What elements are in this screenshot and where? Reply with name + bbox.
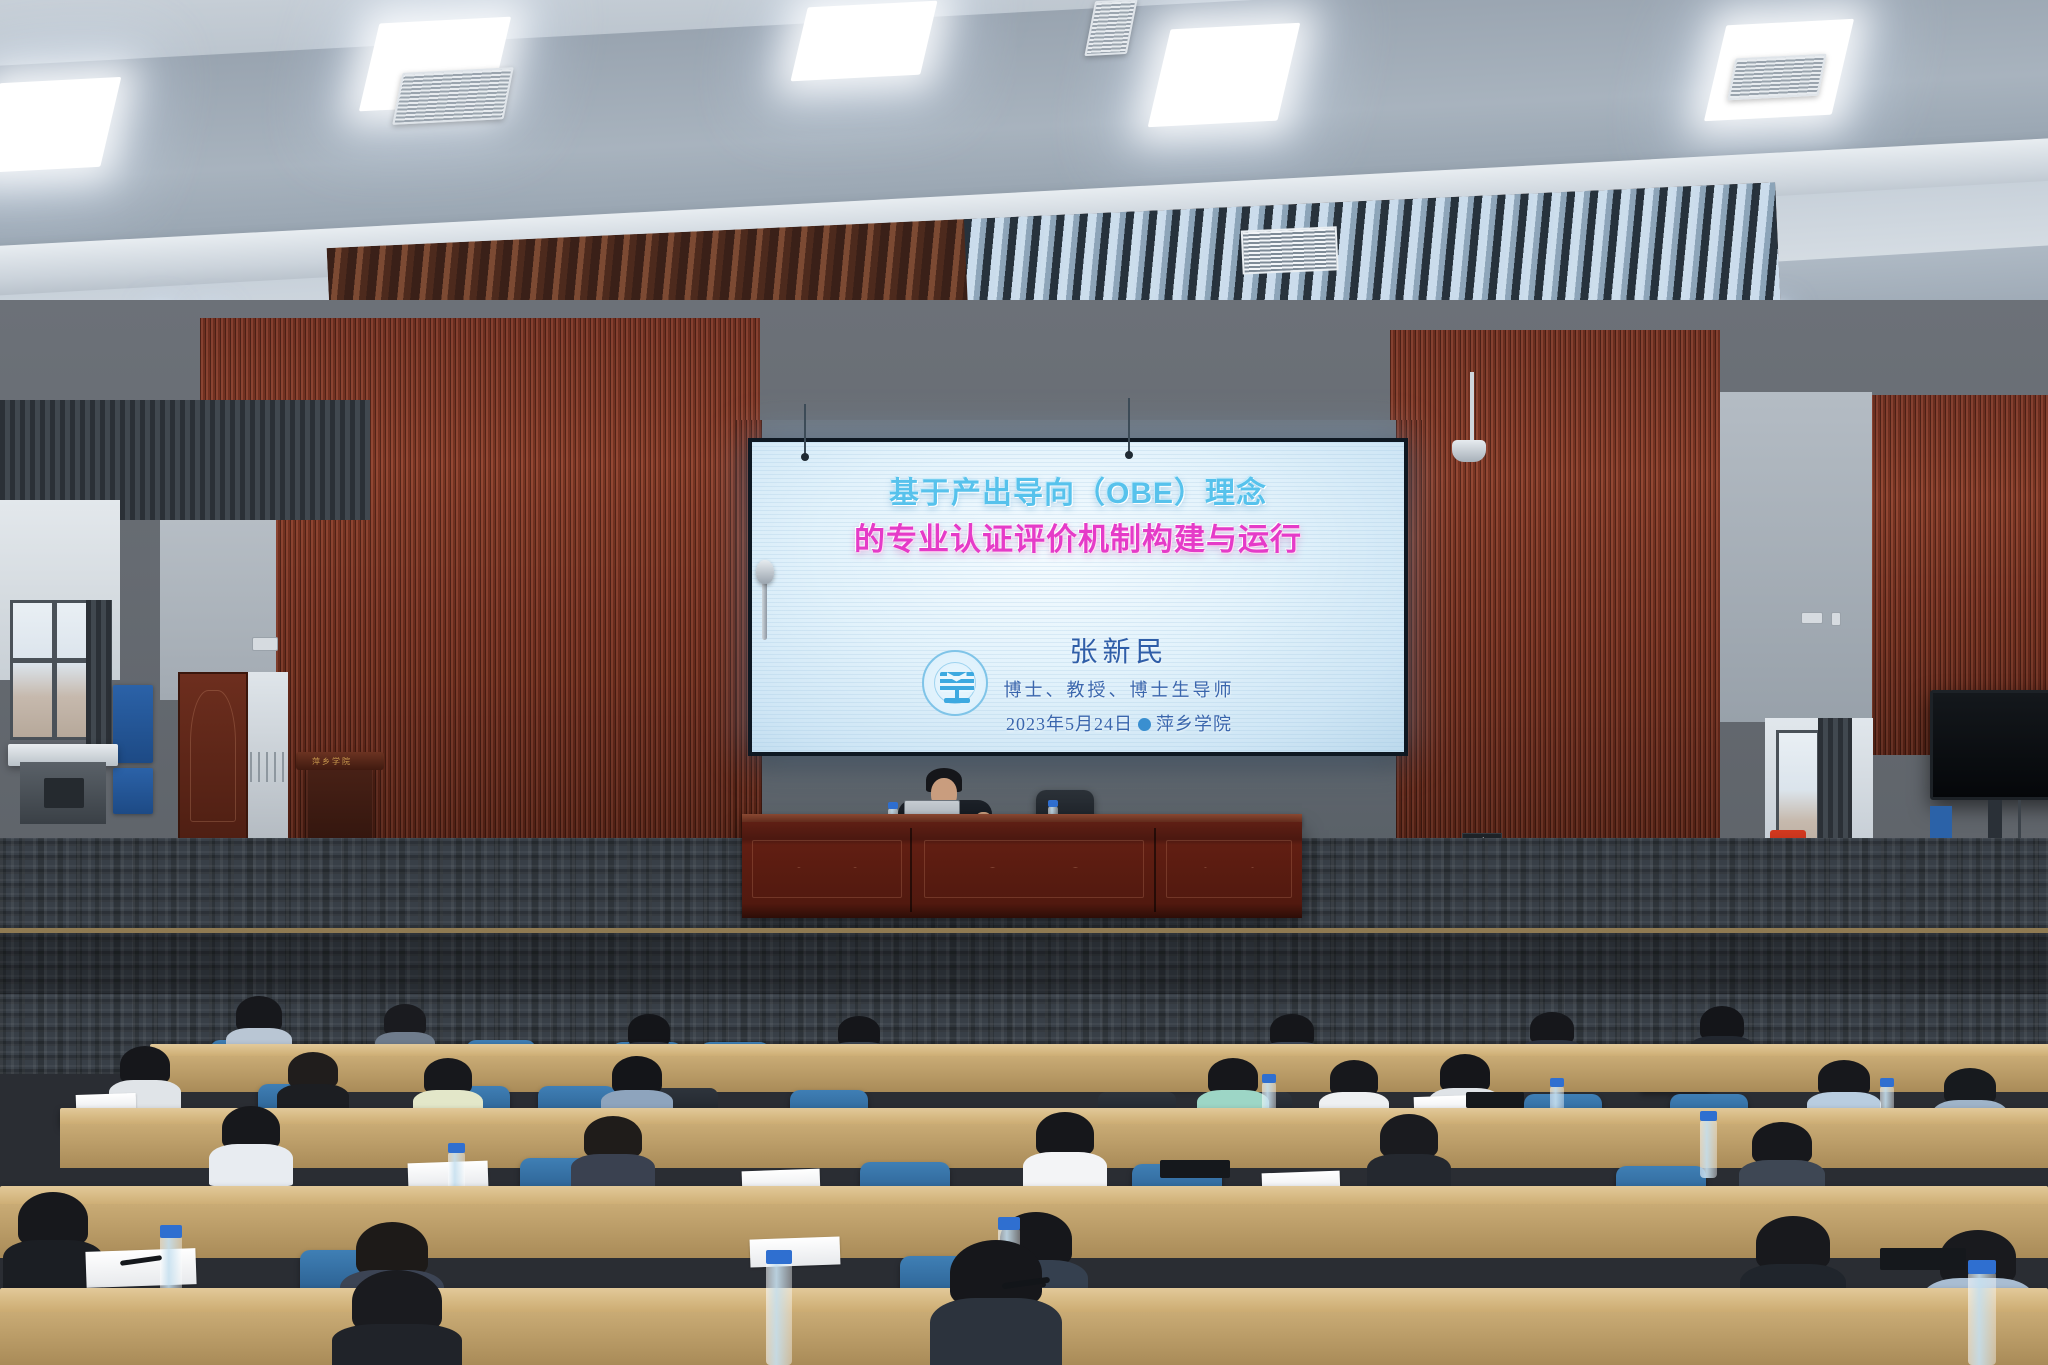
water-bottle	[1700, 1120, 1717, 1178]
audience-person	[1036, 1112, 1094, 1186]
projection-screen: 基于产出导向（OBE）理念 的专业认证评价机制构建与运行 张新民 博士、教授、博…	[752, 442, 1404, 752]
table-seam	[910, 828, 912, 912]
curtain-left-side	[86, 600, 112, 760]
table-panel	[752, 840, 902, 898]
lecture-hall-photo: 基于产出导向（OBE）理念 的专业认证评价机制构建与运行 张新民 博士、教授、博…	[0, 0, 2048, 1365]
slide-title-line1: 基于产出导向（OBE）理念	[752, 468, 1404, 512]
audience-person	[1380, 1114, 1438, 1188]
paper-sheet	[750, 1236, 841, 1267]
slide-date: 2023年5月24日	[1006, 714, 1133, 734]
water-bottle-cap-icon	[998, 1217, 1020, 1230]
bullet-dot-icon	[1138, 718, 1151, 731]
baffle-vent	[1240, 226, 1338, 274]
hvac-grille	[392, 67, 514, 125]
stage-step-face	[0, 932, 2048, 998]
water-bottle-cap-icon	[766, 1250, 792, 1264]
table-panel	[924, 840, 1144, 898]
window-mullion	[52, 600, 57, 740]
lectern-label: 萍乡学院	[312, 756, 352, 767]
stage-step-nosing	[0, 928, 2048, 933]
conference-table	[742, 822, 1302, 918]
water-bottle-cap-icon	[1880, 1078, 1894, 1087]
ceiling-light-panel	[1148, 23, 1301, 128]
television-display[interactable]	[1930, 690, 2048, 800]
wall-outlet-plate	[1801, 612, 1823, 624]
wood-slat-wall-right	[1390, 330, 1720, 850]
audience-person	[18, 1192, 88, 1284]
slide-institution: 萍乡学院	[1156, 714, 1232, 734]
slide-speaker-role: 博士、教授、博士生导师	[1004, 676, 1235, 702]
water-bottle-cap-icon	[1968, 1260, 1996, 1274]
tv-equipment-box	[1930, 806, 1952, 840]
water-bottle-cap-icon	[1048, 800, 1058, 807]
ceiling-camera-icon	[1452, 440, 1486, 462]
education-evaluation-center-emblem-icon	[922, 650, 988, 716]
grey-wall-panel-right	[1720, 392, 1872, 722]
water-bottle-cap-icon	[160, 1225, 182, 1238]
railing-outside	[250, 752, 286, 782]
audience-person	[1752, 1122, 1812, 1194]
water-bottle-cap-icon	[448, 1143, 465, 1153]
water-bottle-cap-icon	[1550, 1078, 1564, 1087]
slide-speaker-name: 张新民	[1004, 630, 1235, 670]
table-seam	[1154, 828, 1156, 912]
water-bottle-cap-icon	[888, 802, 898, 809]
hanging-wire	[804, 404, 806, 454]
water-bottle-cap-icon	[1262, 1074, 1276, 1083]
phone	[1466, 1092, 1524, 1108]
audience-person	[950, 1240, 1042, 1365]
audience-person	[352, 1270, 442, 1365]
table-panel	[1166, 840, 1292, 898]
wall-outlet-plate	[1831, 612, 1841, 626]
projection-screen-frame: 基于产出导向（OBE）理念 的专业认证评价机制构建与运行 张新民 博士、教授、博…	[748, 438, 1408, 756]
water-bottle-cap-icon	[1700, 1111, 1717, 1121]
hanging-wire	[1128, 398, 1130, 452]
water-bottle	[1968, 1272, 1996, 1365]
door-panel	[190, 690, 236, 822]
slide-meta-line: 2023年5月24日萍乡学院	[1004, 710, 1235, 736]
phone	[1880, 1248, 1966, 1270]
water-bottle	[766, 1262, 792, 1365]
slide-title-line2: 的专业认证评价机制构建与运行	[752, 514, 1404, 559]
phone	[1160, 1160, 1230, 1178]
audience-person	[584, 1116, 642, 1188]
hvac-grille	[1727, 54, 1826, 101]
audience-person	[288, 1052, 338, 1114]
slide-speaker-block: 张新民 博士、教授、博士生导师 2023年5月24日萍乡学院	[752, 630, 1404, 736]
wall-sign-blue	[113, 685, 153, 763]
microphone-head-icon	[756, 560, 774, 584]
info-desk-panel	[44, 778, 84, 808]
wall-outlet-plate	[252, 637, 278, 651]
ceiling-light-panel	[790, 1, 937, 82]
audience-person	[222, 1106, 280, 1180]
wall-sign-blue-lower	[113, 768, 153, 814]
